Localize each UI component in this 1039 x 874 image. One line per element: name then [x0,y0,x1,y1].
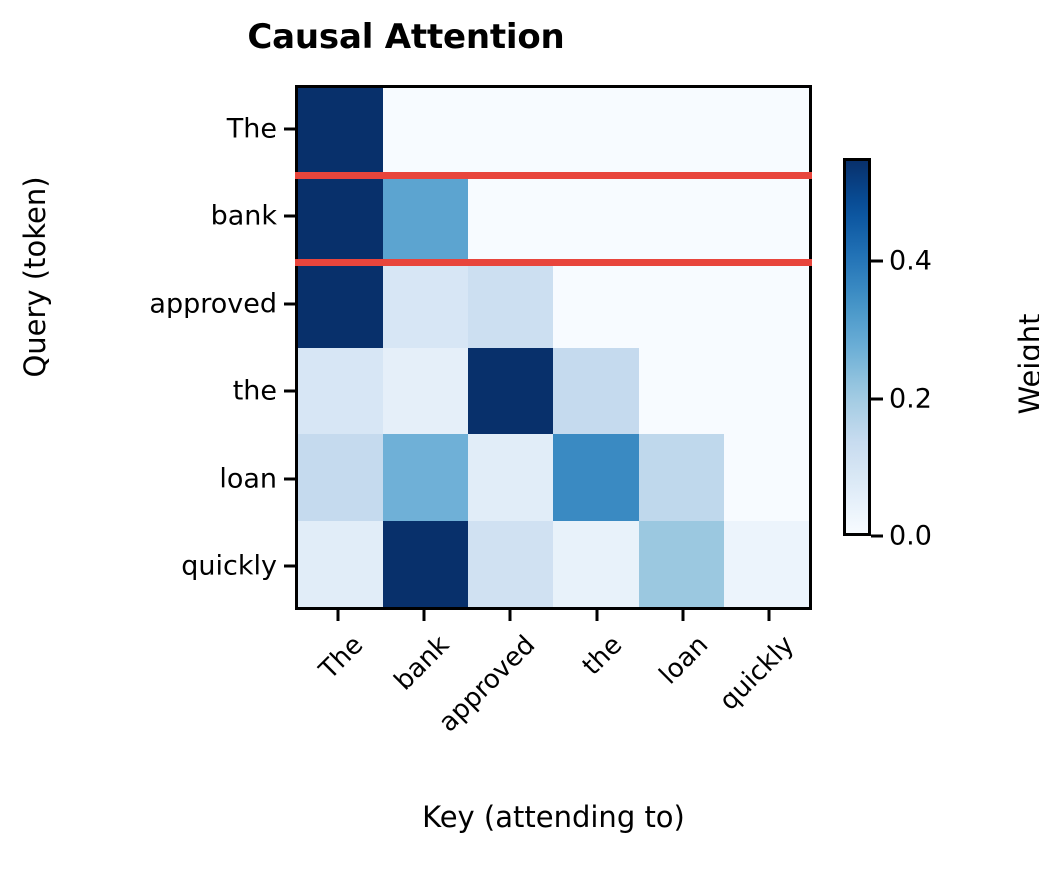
heatmap-cell [639,261,724,348]
y-tick-mark [284,215,295,218]
heatmap-cell [383,348,468,435]
y-tick-mark [284,565,295,568]
y-tick-label: bank [211,201,277,232]
heatmap-cell [553,88,638,175]
heatmap-cell [639,521,724,608]
heatmap-plot-area [295,85,812,610]
heatmap-cell [639,88,724,175]
highlight-line-top [295,172,812,179]
y-tick-mark [284,390,295,393]
y-tick-label: loan [219,463,277,494]
heatmap-cell [383,261,468,348]
y-tick-label: The [227,113,277,144]
colorbar-tick-mark [871,535,883,538]
x-axis-label: Key (attending to) [295,800,812,834]
x-tick-mark [681,610,684,621]
heatmap-cell [553,175,638,262]
heatmap-cell [724,261,809,348]
y-tick-mark [284,127,295,130]
colorbar-tick-label: 0.2 [889,383,932,414]
heatmap-cell [298,175,383,262]
heatmap-cell [468,261,553,348]
heatmap-cell [639,434,724,521]
highlight-line-bottom [295,259,812,266]
y-tick-label: approved [149,288,277,319]
x-tick-mark [509,610,512,621]
heatmap-cell [298,521,383,608]
x-tick-label: loan [653,630,713,690]
y-tick-label: quickly [181,551,277,582]
heatmap-cell [468,521,553,608]
heatmap-cell [298,434,383,521]
heatmap-cell [468,434,553,521]
heatmap-cell [383,175,468,262]
colorbar-label: Weight [1013,214,1039,514]
y-tick-label: the [233,376,277,407]
colorbar-tick-mark [871,397,883,400]
colorbar-tick-mark [871,260,883,263]
x-axis: Thebankapprovedtheloanquickly [295,610,812,810]
heatmap-cell [383,434,468,521]
heatmap-cell [724,434,809,521]
x-tick-mark [767,610,770,621]
heatmap-cell [724,175,809,262]
heatmap-cell [724,348,809,435]
heatmap-grid [298,88,809,607]
heatmap-cell [553,521,638,608]
x-tick-mark [595,610,598,621]
x-tick-mark [337,610,340,621]
colorbar [843,158,871,536]
y-tick-mark [284,302,295,305]
x-tick-label: the [576,630,627,681]
heatmap-cell [298,88,383,175]
colorbar-tick-label: 0.4 [889,246,932,277]
heatmap-cell [553,348,638,435]
colorbar-gradient [846,161,868,533]
colorbar-tick-label: 0.0 [889,521,932,552]
chart-title: Causal Attention [0,20,812,54]
heatmap-cell [553,261,638,348]
heatmap-cell [383,88,468,175]
heatmap-cell [468,88,553,175]
heatmap-cell [639,348,724,435]
heatmap-cell [298,348,383,435]
y-tick-mark [284,477,295,480]
heatmap-cell [553,434,638,521]
heatmap-cell [724,88,809,175]
x-tick-label: The [314,630,369,685]
heatmap-cell [468,175,553,262]
heatmap-cell [298,261,383,348]
heatmap-cell [383,521,468,608]
x-tick-label: bank [389,630,455,696]
chart-canvas: Causal Attention Query (token) Thebankap… [0,0,1039,874]
x-tick-mark [423,610,426,621]
heatmap-cell [724,521,809,608]
heatmap-cell [468,348,553,435]
y-axis: Thebankapprovedtheloanquickly [0,85,295,610]
x-tick-label: quickly [714,630,800,716]
heatmap-cell [639,175,724,262]
